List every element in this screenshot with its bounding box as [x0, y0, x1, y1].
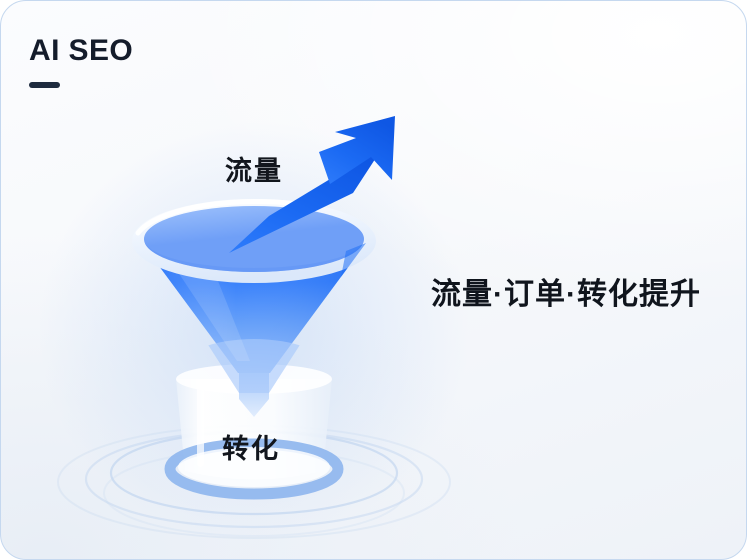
- tagline: 流量·订单·转化提升: [431, 277, 701, 313]
- title-underline-rule: [29, 82, 60, 88]
- page-title: AI SEO: [29, 34, 289, 68]
- label-traffic: 流量: [225, 156, 283, 186]
- poster-card: AI SEO 流量 转化 流量·订单·转化提升: [0, 0, 747, 560]
- label-conversion: 转化: [222, 434, 280, 464]
- funnel-rim: [132, 199, 376, 283]
- title-block: AI SEO: [29, 34, 289, 88]
